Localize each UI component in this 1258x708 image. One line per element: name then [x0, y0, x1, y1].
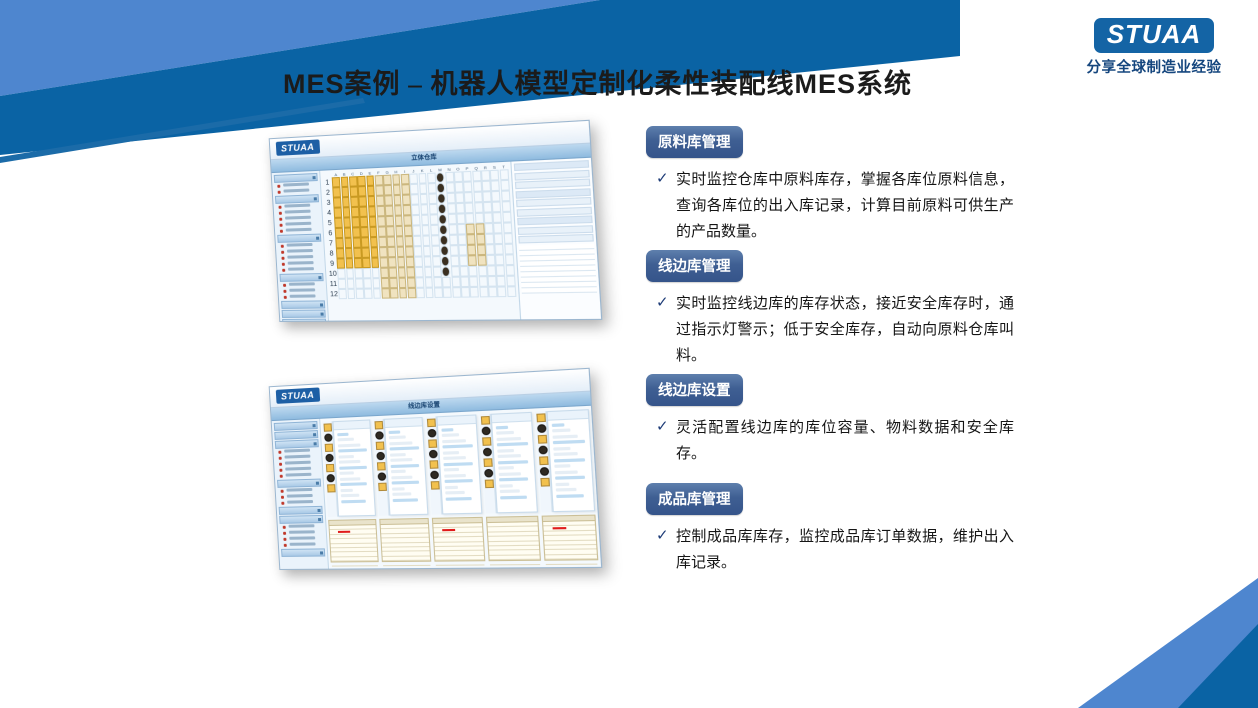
section-heading-badge: 线边库设置: [646, 374, 743, 406]
grid-cell[interactable]: [335, 228, 343, 238]
grid-cell[interactable]: [360, 217, 369, 227]
grid-cell[interactable]: [394, 205, 403, 216]
grid-cell[interactable]: [376, 206, 385, 217]
grid-cell[interactable]: [351, 207, 360, 217]
grid-cell[interactable]: [488, 287, 497, 298]
grid-cell[interactable]: [424, 267, 433, 278]
grid-cell[interactable]: [473, 181, 482, 192]
grid-cell[interactable]: [437, 193, 446, 204]
grid-cell[interactable]: [371, 258, 380, 268]
grid-cell[interactable]: [411, 194, 420, 205]
sidebar-item[interactable]: [281, 255, 322, 261]
grid-cell[interactable]: [373, 288, 382, 298]
grid-cell[interactable]: [474, 202, 483, 213]
grid-cell[interactable]: [398, 278, 407, 288]
grid-cell[interactable]: [463, 171, 472, 182]
grid-cell[interactable]: [503, 222, 512, 233]
material-dark-icon: [482, 448, 491, 457]
grid-cell[interactable]: [392, 174, 401, 185]
grid-cell[interactable]: [342, 207, 350, 217]
sidebar-group-header[interactable]: [279, 273, 323, 282]
grid-cell[interactable]: [433, 267, 442, 278]
grid-cell[interactable]: [354, 268, 363, 278]
grid-cell[interactable]: [368, 206, 377, 217]
grid-cell[interactable]: [432, 246, 441, 257]
grid-cell[interactable]: [492, 191, 501, 202]
grid-cell[interactable]: [458, 234, 467, 245]
grid-cell[interactable]: [375, 185, 384, 196]
grid-cell[interactable]: [505, 254, 514, 265]
grid-cell[interactable]: [436, 172, 445, 183]
grid-cell[interactable]: [337, 269, 345, 279]
grid-cell[interactable]: [346, 268, 355, 278]
grid-cell[interactable]: [446, 193, 455, 204]
card-title: [385, 418, 422, 428]
grid-cell[interactable]: [439, 214, 448, 225]
grid-cell[interactable]: [464, 181, 473, 192]
sidebar-item[interactable]: [283, 530, 324, 536]
grid-cell[interactable]: [470, 287, 479, 298]
grid-cell[interactable]: [346, 279, 355, 289]
grid-cell[interactable]: [413, 236, 422, 247]
grid-cell[interactable]: [460, 276, 469, 287]
grid-cell[interactable]: [488, 276, 497, 287]
grid-cell[interactable]: [369, 227, 378, 238]
grid-cell[interactable]: [340, 177, 348, 188]
sidebar-group-header[interactable]: [279, 506, 323, 515]
grid-cell[interactable]: [403, 215, 412, 226]
card-line: [498, 466, 513, 470]
grid-cell[interactable]: [459, 255, 468, 266]
grid-cell[interactable]: [418, 173, 427, 184]
grid-cell[interactable]: [366, 175, 375, 186]
grid-cell[interactable]: [406, 267, 415, 278]
grid-cell[interactable]: [439, 224, 448, 235]
grid-cell[interactable]: [390, 288, 399, 298]
grid-cell[interactable]: [434, 287, 443, 298]
grid-cell[interactable]: [423, 246, 432, 257]
grid-cell[interactable]: [362, 258, 371, 268]
grid-cell[interactable]: [412, 215, 421, 226]
grid-cell[interactable]: [428, 183, 437, 194]
grid-cell[interactable]: [399, 288, 408, 298]
grid-cell[interactable]: [452, 287, 461, 298]
grid-cell[interactable]: [401, 174, 410, 185]
grid-cell[interactable]: [389, 278, 398, 288]
grid-cell[interactable]: [422, 235, 431, 246]
grid-cell[interactable]: [427, 173, 436, 184]
grid-cell[interactable]: [446, 182, 455, 193]
grid-cell[interactable]: [344, 238, 353, 248]
grid-cell[interactable]: [445, 172, 454, 183]
grid-cell[interactable]: [389, 267, 398, 277]
grid-cell[interactable]: [483, 202, 492, 213]
grid-cell[interactable]: [380, 257, 389, 267]
grid-cell[interactable]: [420, 204, 429, 215]
sidebar-item[interactable]: [283, 536, 324, 542]
grid-cell[interactable]: [429, 204, 438, 215]
grid-cell[interactable]: [458, 245, 467, 256]
grid-cell[interactable]: [484, 223, 493, 234]
sidebar-item[interactable]: [284, 542, 325, 548]
grid-cell[interactable]: [413, 225, 422, 236]
line-side-card[interactable]: [384, 417, 429, 516]
grid-cell[interactable]: [379, 247, 388, 257]
grid-cell[interactable]: [431, 235, 440, 246]
grid-cell[interactable]: [354, 258, 363, 268]
card-line: [500, 489, 520, 493]
grid-cell[interactable]: [356, 289, 365, 299]
grid-cell[interactable]: [359, 206, 368, 217]
grid-cell[interactable]: [443, 287, 452, 298]
grid-cell[interactable]: [451, 266, 460, 277]
grid-cell[interactable]: [384, 185, 393, 196]
grid-cell[interactable]: [442, 266, 451, 277]
grid-cell[interactable]: [402, 194, 411, 205]
table-row: [383, 561, 431, 566]
grid-cell[interactable]: [361, 237, 370, 247]
sidebar-group-header[interactable]: [277, 234, 321, 243]
grid-cell[interactable]: [342, 197, 350, 207]
grid-cell[interactable]: [455, 182, 464, 193]
sidebar-item[interactable]: [282, 261, 323, 267]
grid-cell[interactable]: [466, 213, 475, 224]
grid-cell[interactable]: [482, 191, 491, 202]
grid-cell[interactable]: [333, 197, 341, 207]
feature-bullet: ✓实时监控线边库的库存状态，接近安全库存时，通过指示灯警示；低于安全库存，自动向…: [646, 291, 1018, 369]
sidebar-item[interactable]: [283, 282, 324, 288]
grid-cell[interactable]: [362, 247, 371, 257]
grid-cell[interactable]: [415, 267, 424, 278]
grid-cell[interactable]: [442, 277, 451, 288]
line-side-card[interactable]: [436, 414, 482, 514]
grid-cell[interactable]: [383, 175, 392, 186]
grid-cell[interactable]: [456, 203, 465, 214]
grid-cell[interactable]: [380, 268, 389, 278]
grid-cell[interactable]: [503, 233, 512, 244]
grid-cell[interactable]: [505, 265, 514, 276]
grid-cell[interactable]: [449, 245, 458, 256]
grid-cell[interactable]: [495, 244, 504, 255]
grid-cell[interactable]: [337, 258, 345, 268]
grid-cell[interactable]: [494, 233, 503, 244]
grid-cell[interactable]: [461, 287, 470, 298]
grid-cell[interactable]: [473, 192, 482, 203]
inventory-table[interactable]: [379, 518, 431, 562]
grid-cell[interactable]: [363, 268, 372, 278]
grid-cell[interactable]: [398, 267, 407, 278]
grid-cell[interactable]: [334, 218, 342, 228]
line-side-slot: [480, 412, 538, 514]
grid-cell[interactable]: [350, 186, 359, 197]
grid-cell[interactable]: [499, 169, 508, 180]
grid-cell[interactable]: [425, 277, 434, 288]
sidebar-item[interactable]: [284, 294, 325, 300]
grid-cell[interactable]: [393, 195, 402, 206]
grid-cell[interactable]: [425, 288, 434, 299]
grid-cell[interactable]: [349, 176, 358, 187]
grid-cell[interactable]: [467, 245, 476, 256]
grid-cell[interactable]: [367, 196, 376, 207]
grid-cell[interactable]: [492, 201, 501, 212]
grid-cell[interactable]: [468, 255, 477, 266]
grid-cell[interactable]: [388, 247, 397, 258]
grid-cell[interactable]: [345, 248, 354, 258]
grid-cell[interactable]: [490, 170, 499, 181]
grid-cell[interactable]: [370, 237, 379, 247]
grid-cell[interactable]: [378, 226, 387, 237]
grid-cell[interactable]: [451, 277, 460, 288]
grid-cell[interactable]: [338, 279, 346, 289]
grid-cell[interactable]: [504, 244, 513, 255]
grid-cell[interactable]: [466, 224, 475, 235]
grid-cell[interactable]: [376, 196, 385, 207]
grid-cell[interactable]: [475, 223, 484, 234]
grid-cell[interactable]: [375, 175, 384, 186]
grid-cell[interactable]: [449, 235, 458, 246]
grid-cell[interactable]: [421, 225, 430, 236]
feature-bullet: ✓控制成品库库存，监控成品库订单数据，维护出入库记录。: [646, 524, 1018, 576]
grid-cell[interactable]: [502, 212, 511, 223]
sidebar-item[interactable]: [281, 494, 322, 500]
grid-cell[interactable]: [457, 224, 466, 235]
grid-cell[interactable]: [455, 192, 464, 203]
grid-cell[interactable]: [386, 216, 395, 227]
grid-cell[interactable]: [416, 277, 425, 288]
grid-cell[interactable]: [393, 185, 402, 196]
grid-cell[interactable]: [387, 236, 396, 247]
grid-cell[interactable]: [397, 257, 406, 268]
grid-cell[interactable]: [395, 226, 404, 237]
grid-cell[interactable]: [364, 278, 373, 288]
grid-cell[interactable]: [343, 217, 351, 227]
grid-cell[interactable]: [428, 193, 437, 204]
grid-cell[interactable]: [506, 276, 515, 287]
grid-cell[interactable]: [386, 226, 395, 237]
inventory-table[interactable]: [432, 517, 486, 562]
grid-cell[interactable]: [460, 266, 469, 277]
grid-cell[interactable]: [345, 258, 354, 268]
sidebar-item[interactable]: [281, 249, 322, 255]
line-side-card[interactable]: [332, 419, 376, 516]
detail-table-row: [521, 287, 597, 293]
material-dark-icon: [538, 446, 548, 455]
grid-cell[interactable]: [496, 265, 505, 276]
grid-cell[interactable]: [381, 278, 390, 288]
detail-field[interactable]: [518, 234, 594, 244]
grid-cell[interactable]: [454, 171, 463, 182]
material-box-icon: [426, 418, 435, 427]
grid-cell[interactable]: [491, 180, 500, 191]
grid-cell[interactable]: [476, 234, 485, 245]
grid-row-label: 11: [329, 280, 339, 287]
inventory-table[interactable]: [542, 515, 599, 561]
grid-cell[interactable]: [388, 257, 397, 267]
grid-cell[interactable]: [433, 277, 442, 288]
grid-cell[interactable]: [353, 237, 362, 247]
grid-cell[interactable]: [353, 248, 362, 258]
grid-cell[interactable]: [482, 181, 491, 192]
grid-cell[interactable]: [496, 255, 505, 266]
grid-cell[interactable]: [501, 201, 510, 212]
grid-cell[interactable]: [360, 227, 369, 237]
grid-cell[interactable]: [447, 203, 456, 214]
grid-cell[interactable]: [406, 257, 415, 268]
grid-cell[interactable]: [479, 287, 488, 298]
grid-cell[interactable]: [332, 177, 340, 187]
grid-cell[interactable]: [475, 213, 484, 224]
card-line: [552, 434, 578, 438]
grid-cell[interactable]: [411, 205, 420, 216]
grid-cell[interactable]: [420, 194, 429, 205]
grid-cell[interactable]: [355, 278, 364, 288]
sidebar-item[interactable]: [282, 267, 323, 273]
grid-cell[interactable]: [465, 202, 474, 213]
grid-cell[interactable]: [421, 215, 430, 226]
grid-cell[interactable]: [414, 256, 423, 267]
grid-cell[interactable]: [394, 216, 403, 227]
grid-cell[interactable]: [364, 289, 373, 299]
sidebar-item[interactable]: [283, 288, 324, 294]
card-line: [500, 495, 527, 499]
grid-cell[interactable]: [497, 276, 506, 287]
sidebar-item[interactable]: [283, 524, 324, 530]
grid-cell[interactable]: [367, 186, 376, 197]
inventory-table[interactable]: [328, 519, 379, 563]
grid-cell[interactable]: [333, 187, 341, 197]
grid-cell[interactable]: [385, 206, 394, 217]
grid-cell[interactable]: [487, 265, 496, 276]
sidebar-group-header[interactable]: [282, 319, 326, 322]
grid-cell[interactable]: [381, 288, 390, 298]
grid-cell[interactable]: [341, 187, 349, 198]
grid-cell[interactable]: [407, 277, 416, 288]
detail-field[interactable]: [517, 215, 593, 225]
grid-cell[interactable]: [409, 173, 418, 184]
sidebar-item[interactable]: [281, 500, 322, 506]
grid-cell[interactable]: [377, 216, 386, 227]
grid-cell[interactable]: [350, 197, 359, 208]
card-line: [341, 494, 360, 498]
grid-cell[interactable]: [477, 244, 486, 255]
card-line: [391, 475, 412, 479]
grid-cell[interactable]: [440, 245, 449, 256]
grid-cell[interactable]: [450, 256, 459, 267]
grid-cell[interactable]: [441, 256, 450, 267]
page-title: MES案例 – 机器人模型定制化柔性装配线MES系统: [283, 62, 912, 101]
grid-cell[interactable]: [469, 276, 478, 287]
grid-cell[interactable]: [478, 276, 487, 287]
grid-cell[interactable]: [359, 196, 368, 207]
app-body-bottom: [272, 406, 602, 570]
grid-cell[interactable]: [357, 176, 366, 187]
material-box-icon: [480, 416, 489, 425]
grid-cell[interactable]: [440, 235, 449, 246]
grid-cell[interactable]: [423, 256, 432, 267]
grid-cell[interactable]: [339, 289, 347, 299]
grid-cell[interactable]: [467, 234, 476, 245]
feature-bullet: ✓灵活配置线边库的库位容量、物料数据和安全库存。: [646, 415, 1018, 467]
grid-cell[interactable]: [437, 183, 446, 194]
grid-cell[interactable]: [456, 213, 465, 224]
grid-cell[interactable]: [484, 212, 493, 223]
grid-cell[interactable]: [477, 255, 486, 266]
grid-cell[interactable]: [472, 170, 481, 181]
grid-cell[interactable]: [430, 225, 439, 236]
grid-cell[interactable]: [416, 288, 425, 299]
grid-cell[interactable]: [352, 227, 361, 237]
grid-cell[interactable]: [469, 266, 478, 277]
grid-cell[interactable]: [405, 246, 414, 257]
grid-cell[interactable]: [396, 236, 405, 247]
grid-cell[interactable]: [372, 268, 381, 278]
inventory-table[interactable]: [486, 516, 541, 562]
grid-cell[interactable]: [494, 223, 503, 234]
line-side-card[interactable]: [546, 409, 595, 512]
grid-cell[interactable]: [403, 205, 412, 216]
grid-cell[interactable]: [378, 237, 387, 248]
grid-cell[interactable]: [368, 216, 377, 227]
grid-cell[interactable]: [351, 217, 360, 227]
sidebar-group-header[interactable]: [282, 310, 326, 318]
grid-cell[interactable]: [430, 214, 439, 225]
grid-cell[interactable]: [384, 195, 393, 206]
grid-cell[interactable]: [336, 238, 344, 248]
grid-cell[interactable]: [448, 224, 457, 235]
grid-cell[interactable]: [447, 214, 456, 225]
sidebar-group-header[interactable]: [279, 515, 323, 524]
grid-cell[interactable]: [464, 192, 473, 203]
grid-cell[interactable]: [432, 256, 441, 267]
grid-cell[interactable]: [507, 286, 516, 297]
grid-cell[interactable]: [414, 246, 423, 257]
grid-cell[interactable]: [404, 226, 413, 237]
grid-cell[interactable]: [419, 183, 428, 194]
grid-cell[interactable]: [358, 186, 367, 197]
grid-cell[interactable]: [401, 184, 410, 195]
grid-cell[interactable]: [334, 207, 342, 217]
grid-cell[interactable]: [347, 289, 356, 299]
sidebar-group-header[interactable]: [281, 300, 325, 309]
grid-row-label: 6: [326, 230, 336, 237]
grid-cell[interactable]: [396, 247, 405, 258]
sidebar-group-header[interactable]: [281, 548, 325, 557]
grid-cell[interactable]: [486, 244, 495, 255]
grid-cell[interactable]: [410, 184, 419, 195]
grid-cell[interactable]: [501, 190, 510, 201]
grid-cell[interactable]: [478, 266, 487, 277]
grid-row-label: 10: [328, 270, 338, 277]
grid-cell[interactable]: [481, 170, 490, 181]
detail-field[interactable]: [518, 225, 594, 235]
grid-cell[interactable]: [404, 236, 413, 247]
grid-cell[interactable]: [500, 180, 509, 191]
grid-cell[interactable]: [343, 228, 351, 238]
grid-cell[interactable]: [370, 247, 379, 257]
grid-cell[interactable]: [486, 255, 495, 266]
grid-cell[interactable]: [485, 234, 494, 245]
grid-cell[interactable]: [438, 204, 447, 215]
grid-cell[interactable]: [408, 288, 417, 298]
sidebar-group-header[interactable]: [277, 479, 321, 488]
grid-cell[interactable]: [372, 278, 381, 288]
grid-cell[interactable]: [336, 248, 344, 258]
material-dark-icon: [484, 469, 493, 478]
line-side-card[interactable]: [491, 412, 538, 514]
grid-cell[interactable]: [493, 212, 502, 223]
grid-cell[interactable]: [497, 286, 506, 297]
card-line: [338, 443, 361, 447]
